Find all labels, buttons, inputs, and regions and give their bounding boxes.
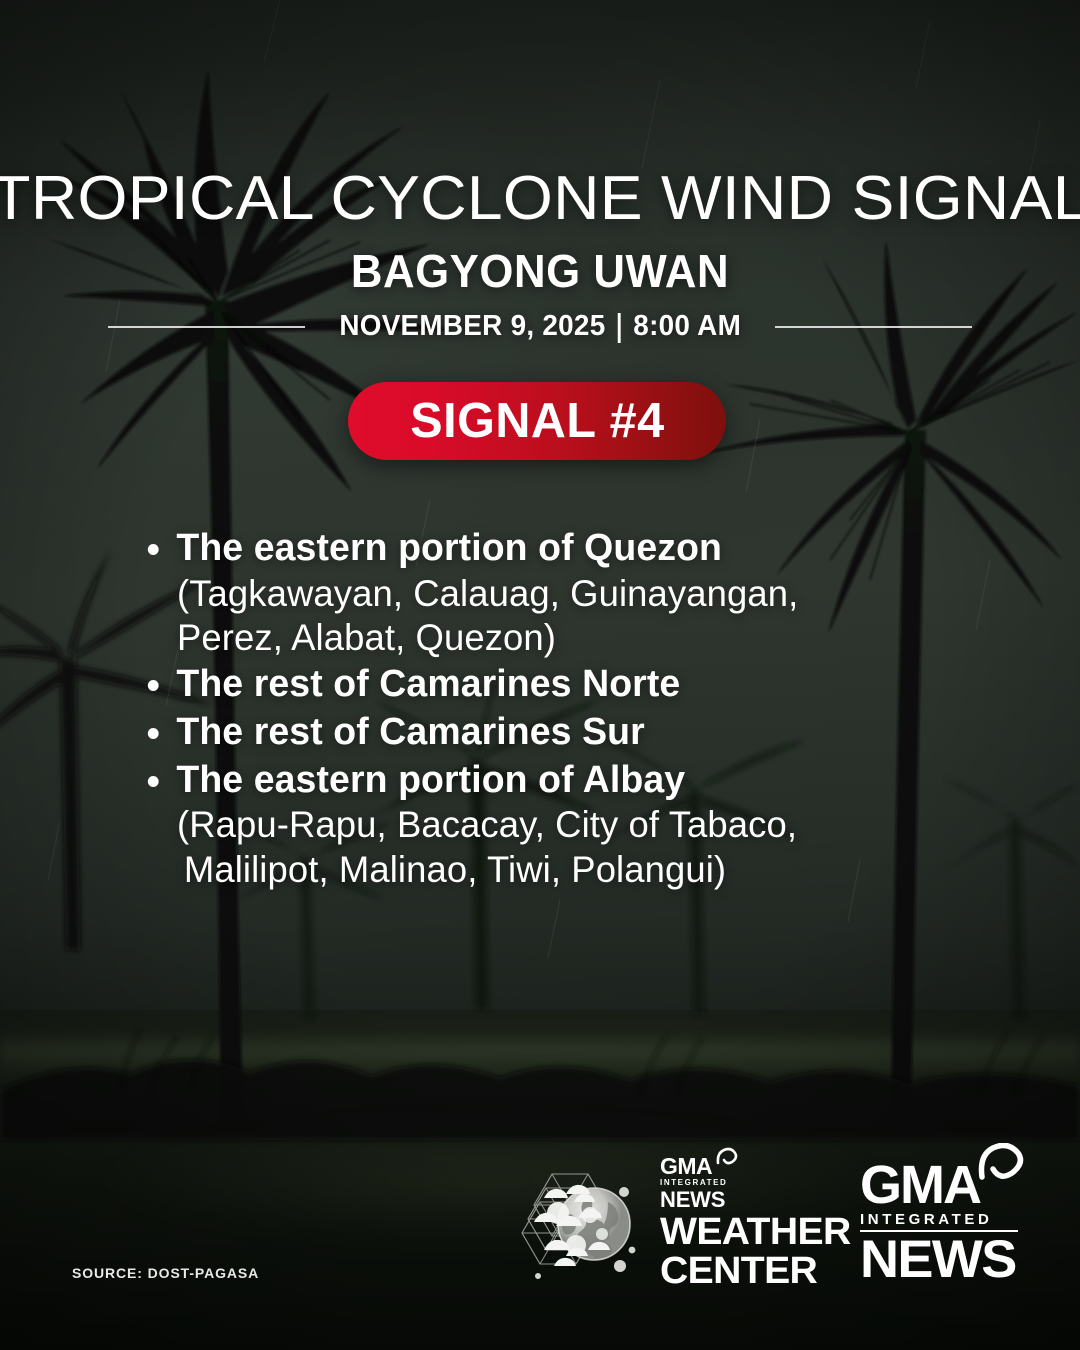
- area-name: The rest of Camarines Norte: [176, 662, 680, 708]
- weather-center-line-2: CENTER: [660, 1254, 847, 1289]
- datetime-row: NOVEMBER 9, 2025 8:00 AM: [0, 310, 1080, 343]
- weather-center-emblem-icon: [512, 1158, 642, 1288]
- status-badge: SIGNAL #4: [348, 382, 726, 460]
- infographic-canvas: TROPICAL CYCLONE WIND SIGNAL BAGYONG UWA…: [0, 0, 1080, 1350]
- gma-wordmark: GMA: [860, 1161, 1028, 1211]
- area-municipalities-line: Malilipot, Malinao, Tiwi, Polangui): [177, 848, 984, 892]
- area-main-row: The rest of Camarines Sur: [136, 710, 983, 756]
- bullet-dot-icon: [148, 544, 159, 555]
- list-item: The eastern portion of Quezon (Tagkawaya…: [136, 526, 996, 660]
- bullet-dot-icon: [148, 776, 159, 787]
- heart-swoosh-icon: [716, 1147, 738, 1167]
- area-main-row: The eastern portion of Albay: [136, 758, 983, 804]
- list-item: The rest of Camarines Sur: [136, 710, 996, 756]
- area-name: The eastern portion of Quezon: [176, 526, 722, 572]
- source-credit: SOURCE: DOST-PAGASA: [72, 1265, 259, 1281]
- area-municipalities: (Tagkawayan, Calauag, Guinayangan, Perez…: [177, 572, 984, 661]
- wc-gma-wordmark: GMA: [660, 1156, 712, 1177]
- heart-swoosh-icon: [978, 1143, 1024, 1185]
- area-main-row: The eastern portion of Quezon: [136, 526, 983, 572]
- area-main-row: The rest of Camarines Norte: [136, 662, 983, 708]
- area-municipalities-line: Perez, Alabat, Quezon): [177, 616, 984, 660]
- weather-center-line-1: WEATHER: [660, 1215, 847, 1250]
- area-name: The eastern portion of Albay: [176, 758, 685, 804]
- datetime-text: NOVEMBER 9, 2025 8:00 AM: [339, 310, 741, 343]
- area-municipalities-line: (Rapu-Rapu, Bacacay, City of Tabaco,: [177, 803, 984, 847]
- gma-text: GMA: [860, 1155, 980, 1215]
- bullet-dot-icon: [148, 680, 159, 691]
- gma-news-text: NEWS: [860, 1235, 1031, 1285]
- storm-name: BAGYONG UWAN: [27, 248, 1053, 294]
- gma-integrated-news-logo: GMA INTEGRATED NEWS: [860, 1161, 1028, 1285]
- gma-weather-center-logo: GMA INTEGRATED NEWS WEATHER CENTER: [660, 1156, 842, 1289]
- area-name: The rest of Camarines Sur: [176, 710, 644, 756]
- area-municipalities: (Rapu-Rapu, Bacacay, City of Tabaco, Mal…: [177, 803, 984, 892]
- date-time-separator: [618, 313, 621, 343]
- wc-gma-text: GMA: [660, 1153, 712, 1179]
- list-item: The eastern portion of Albay (Rapu-Rapu,…: [136, 758, 996, 892]
- bullet-dot-icon: [148, 728, 159, 739]
- time-text: 8:00 AM: [633, 310, 741, 343]
- list-item: The rest of Camarines Norte: [136, 662, 996, 708]
- date-text: NOVEMBER 9, 2025: [339, 310, 605, 343]
- wc-news-text: NEWS: [660, 1189, 842, 1211]
- content-layer: TROPICAL CYCLONE WIND SIGNAL BAGYONG UWA…: [0, 0, 1080, 1350]
- status-badge-label: SIGNAL #4: [410, 397, 664, 446]
- page-title: TROPICAL CYCLONE WIND SIGNAL: [0, 168, 1080, 230]
- logo-lockup: GMA INTEGRATED NEWS WEATHER CENTER GMA: [512, 1138, 1032, 1308]
- area-municipalities-line: (Tagkawayan, Calauag, Guinayangan,: [177, 572, 984, 616]
- affected-areas-list: The eastern portion of Quezon (Tagkawaya…: [136, 526, 996, 894]
- rule-right: [775, 326, 972, 328]
- rule-left: [108, 326, 305, 328]
